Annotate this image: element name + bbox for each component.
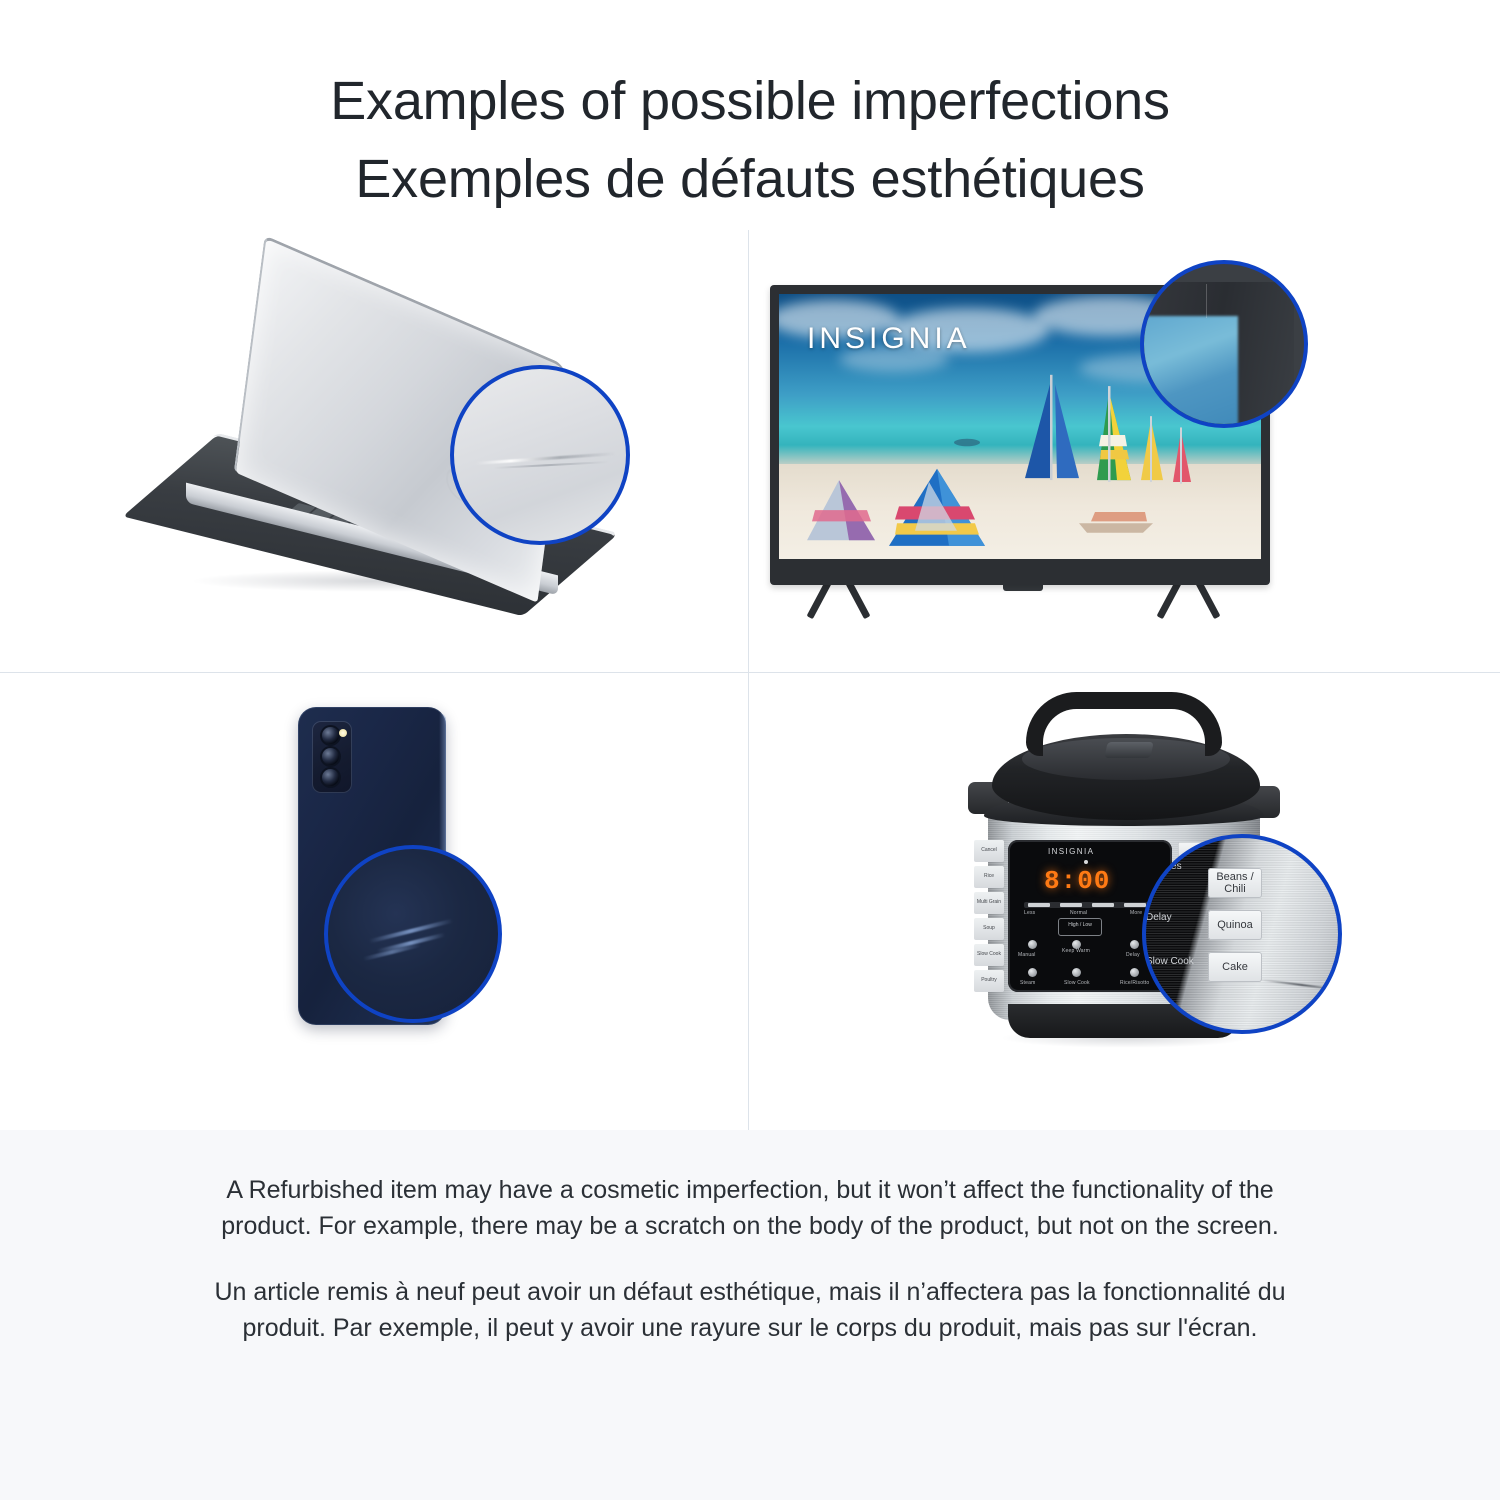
magnifier-circle-phone	[324, 845, 502, 1023]
magnifier-circle-tv	[1140, 260, 1308, 428]
title-line-english: Examples of possible imperfections	[0, 62, 1500, 140]
pressure-cooker-illustration: Cancel Rice Multi Grain Soup Slow Cook P…	[930, 682, 1330, 1082]
tv-corner-seam	[1206, 284, 1207, 318]
grid-vertical-divider	[748, 230, 749, 1130]
page-title: Examples of possible imperfections Exemp…	[0, 0, 1500, 218]
camera-flash-icon	[339, 729, 347, 737]
cooker-progress-bar	[1024, 902, 1152, 908]
tv-corner-screen-zoom	[1140, 316, 1238, 428]
cooker-label-rice-risotto: Rice/Risotto	[1120, 980, 1149, 986]
cooker-panel-dot[interactable]	[1130, 968, 1139, 977]
cooker-button-soup[interactable]: Soup	[974, 918, 1004, 940]
phone-illustration	[258, 697, 518, 1087]
phone-scratch-mark	[369, 919, 453, 944]
cooker-zoom-button-cake: Cake	[1208, 952, 1262, 982]
cooker-label-normal: Normal	[1070, 910, 1087, 916]
cooker-panel-dot[interactable]	[1028, 940, 1037, 949]
footer-description: A Refurbished item may have a cosmetic i…	[0, 1130, 1500, 1500]
cooker-zoom-label-steam-veggies: Steam Veggies	[1146, 850, 1202, 872]
example-cell-phone	[0, 672, 748, 1130]
cooker-label-manual: Manual	[1018, 952, 1036, 958]
cooker-zoom-button-quinoa: Quinoa	[1208, 910, 1262, 940]
camera-lens-icon	[322, 769, 339, 786]
cooker-label-delay: Delay	[1126, 952, 1140, 958]
cooker-brand-logo: INSIGNIA	[1048, 847, 1094, 856]
tv-illustration: INSIGNIA	[760, 260, 1320, 640]
cooker-status-indicator	[1084, 860, 1088, 864]
cooker-zoom-button-beans-chili: Beans / Chili	[1208, 868, 1262, 898]
cooker-button-rice[interactable]: Rice	[974, 866, 1004, 888]
cooker-button-multi-grain[interactable]: Multi Grain	[974, 892, 1004, 914]
magnifier-circle-laptop	[450, 365, 630, 545]
cooker-lid-handle	[1026, 692, 1222, 756]
magnifier-circle-pressure-cooker: Steam Veggies Delay Slow Cook Beans / Ch…	[1142, 834, 1342, 1034]
camera-lens-icon	[322, 748, 339, 765]
cooker-label-steam: Steam	[1020, 980, 1035, 986]
cooker-panel-dot[interactable]	[1130, 940, 1139, 949]
grid-horizontal-divider	[0, 672, 1500, 673]
camera-lens-icon	[322, 727, 339, 744]
cooker-panel-dot[interactable]	[1028, 968, 1037, 977]
laptop-illustration	[160, 285, 680, 645]
cooker-zoom-label-delay: Delay	[1146, 912, 1202, 923]
cooker-led-display: 8:00	[1044, 866, 1110, 896]
cooker-label-less: Less	[1024, 910, 1035, 916]
title-line-french: Exemples de défauts esthétiques	[0, 140, 1500, 218]
cooker-zoom-label-slow-cook: Slow Cook	[1146, 956, 1202, 967]
examples-grid: INSIGNIA	[0, 230, 1500, 1130]
refurbished-imperfections-infographic: Examples of possible imperfections Exemp…	[0, 0, 1500, 1500]
cooker-label-slow-cook: Slow Cook	[1064, 980, 1090, 986]
example-cell-pressure-cooker: Cancel Rice Multi Grain Soup Slow Cook P…	[748, 672, 1500, 1130]
cooker-panel-dot[interactable]	[1072, 968, 1081, 977]
cooker-button-slow-cook[interactable]: Slow Cook	[974, 944, 1004, 966]
phone-camera-module	[312, 721, 352, 793]
cooker-label-more: More	[1130, 910, 1142, 916]
footer-text-french: Un article remis à neuf peut avoir un dé…	[190, 1274, 1310, 1346]
cooker-button-poultry[interactable]: Poultry	[974, 970, 1004, 992]
example-cell-tv: INSIGNIA	[748, 230, 1500, 672]
cooker-pressure-button[interactable]: High / Low	[1058, 918, 1102, 936]
cooker-left-button-column[interactable]: Cancel Rice Multi Grain Soup Slow Cook P…	[974, 840, 1004, 992]
footer-text-english: A Refurbished item may have a cosmetic i…	[190, 1172, 1310, 1244]
cooker-label-keep-warm: Keep Warm	[1062, 948, 1092, 954]
example-cell-laptop	[0, 230, 748, 672]
cooker-button-cancel[interactable]: Cancel	[974, 840, 1004, 862]
